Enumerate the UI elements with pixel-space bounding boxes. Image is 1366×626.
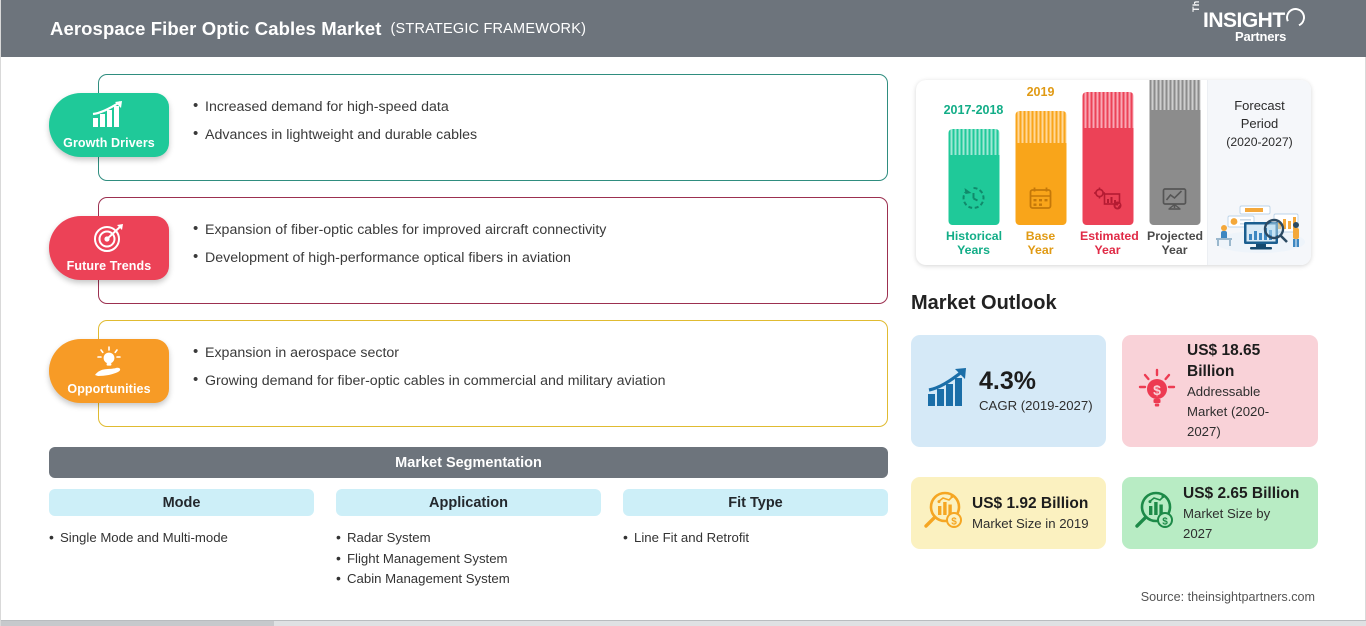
- bullet-item: Development of high-performance optical …: [193, 244, 606, 272]
- addressable-market-card[interactable]: $ US$ 18.65 Billion Addressable Market (…: [1122, 335, 1318, 447]
- market-size-2019-card[interactable]: $ US$ 1.92 Billion Market Size in 2019: [911, 477, 1106, 549]
- list-item: Line Fit and Retrofit: [623, 528, 888, 549]
- cagr-value: 4.3%: [979, 367, 1093, 396]
- market-outlook-title: Market Outlook: [911, 292, 1057, 315]
- market-size-2027-texts: US$ 2.65 Billion Market Size by 2027: [1183, 483, 1299, 544]
- bar-caption: Historical Years: [946, 229, 1001, 257]
- forecast-line-1: Forecast: [1208, 97, 1311, 115]
- segmentation-heading: Fit Type: [623, 489, 888, 516]
- bullet-item: Advances in lightweight and durable cabl…: [193, 121, 477, 149]
- page-title: Aerospace Fiber Optic Cables Market: [50, 18, 381, 40]
- market-segmentation-header: Market Segmentation: [49, 447, 888, 478]
- bullet-item: Expansion of fiber-optic cables for impr…: [193, 216, 606, 244]
- data-analytics-illustration: [1212, 192, 1308, 259]
- forecast-period-text: Forecast Period (2020-2027): [1208, 97, 1311, 151]
- presentation-chart-icon: [1161, 185, 1189, 216]
- market-size-2027-value: US$ 2.65 Billion: [1183, 483, 1299, 504]
- market-segmentation-title: Market Segmentation: [395, 455, 542, 471]
- bullet-item: Expansion in aerospace sector: [193, 339, 666, 367]
- bar-caption: Projected Year: [1147, 229, 1202, 257]
- list-item: Cabin Management System: [336, 569, 601, 590]
- svg-text:$: $: [1153, 382, 1161, 398]
- calendar-icon: [1028, 185, 1054, 216]
- market-size-2027-label: Market Size by 2027: [1183, 504, 1293, 544]
- logo-the-text: The: [1191, 0, 1201, 12]
- list-item: Flight Management System: [336, 549, 601, 570]
- addressable-market-value: US$ 18.65 Billion: [1187, 340, 1302, 382]
- magnifier-chart-dollar-icon: $: [921, 489, 965, 538]
- timeline-bars: 2017-2018 Historical Years: [916, 80, 1206, 265]
- page-subtitle: (STRATEGIC FRAMEWORK): [390, 21, 586, 37]
- segmentation-heading-label: Fit Type: [728, 495, 783, 511]
- svg-text:$: $: [1162, 516, 1168, 527]
- bullet-list-future-trends: Expansion of fiber-optic cables for impr…: [193, 216, 606, 272]
- target-dartboard-icon: [91, 223, 127, 258]
- magnifier-chart-dollar-icon: $: [1132, 489, 1176, 538]
- segmentation-column-application: Application Radar System Flight Manageme…: [336, 489, 601, 590]
- bullet-item: Growing demand for fiber-optic cables in…: [193, 367, 666, 395]
- logo-partners-text: Partners: [1235, 29, 1286, 44]
- badge-growth-drivers[interactable]: Growth Drivers: [49, 93, 169, 157]
- segmentation-items: Line Fit and Retrofit: [623, 528, 888, 549]
- lightbulb-in-hand-icon: [89, 346, 129, 383]
- cagr-card[interactable]: 4.3% CAGR (2019-2027): [911, 335, 1106, 447]
- list-item: Single Mode and Multi-mode: [49, 528, 314, 549]
- badge-label: Future Trends: [67, 259, 152, 273]
- source-attribution: Source: theinsightpartners.com: [1141, 590, 1315, 604]
- market-size-2019-value: US$ 1.92 Billion: [972, 493, 1089, 514]
- addressable-market-label: Addressable Market (2020-2027): [1187, 382, 1302, 442]
- page-header: Aerospace Fiber Optic Cables Market (STR…: [1, 0, 1366, 57]
- segmentation-heading-label: Application: [429, 495, 508, 511]
- badge-opportunities[interactable]: Opportunities: [49, 339, 169, 403]
- market-size-2019-label: Market Size in 2019: [972, 514, 1089, 534]
- badge-label: Growth Drivers: [63, 136, 155, 150]
- bullet-list-growth-drivers: Increased demand for high-speed data Adv…: [193, 93, 477, 149]
- segmentation-column-mode: Mode Single Mode and Multi-mode: [49, 489, 314, 549]
- bar-year-label: 2017-2018: [944, 103, 1004, 117]
- insight-partners-logo: The INSIGHT Partners: [1191, 8, 1311, 50]
- forecast-period-side-panel: Forecast Period (2020-2027): [1207, 80, 1311, 265]
- forecast-line-2: Period: [1208, 115, 1311, 133]
- bar-year-label: 2019: [1027, 85, 1055, 99]
- svg-text:$: $: [951, 516, 957, 527]
- bullet-item: Increased demand for high-speed data: [193, 93, 477, 121]
- forecast-line-3: (2020-2027): [1208, 133, 1311, 151]
- segmentation-heading-label: Mode: [163, 495, 201, 511]
- bar-chart-arrow-up-icon: [925, 367, 971, 416]
- segmentation-items: Single Mode and Multi-mode: [49, 528, 314, 549]
- addressable-market-texts: US$ 18.65 Billion Addressable Market (20…: [1187, 340, 1302, 442]
- list-item: Radar System: [336, 528, 601, 549]
- cagr-label: CAGR (2019-2027): [979, 396, 1093, 416]
- badge-future-trends[interactable]: Future Trends: [49, 216, 169, 280]
- bar-caption: Estimated Year: [1080, 229, 1135, 257]
- badge-label: Opportunities: [67, 382, 150, 396]
- lightbulb-dollar-icon: $: [1136, 367, 1178, 416]
- logo-ring-icon: [1283, 5, 1307, 29]
- horizontal-scrollbar[interactable]: [1, 620, 1366, 626]
- forecast-gear-chart-icon: [1093, 185, 1123, 216]
- market-size-2019-texts: US$ 1.92 Billion Market Size in 2019: [972, 493, 1089, 534]
- segmentation-heading: Mode: [49, 489, 314, 516]
- clock-history-icon: [961, 185, 987, 216]
- segmentation-heading: Application: [336, 489, 601, 516]
- segmentation-items: Radar System Flight Management System Ca…: [336, 528, 601, 590]
- cagr-texts: 4.3% CAGR (2019-2027): [979, 367, 1093, 416]
- market-size-2027-card[interactable]: $ US$ 2.65 Billion Market Size by 2027: [1122, 477, 1318, 549]
- segmentation-column-fit-type: Fit Type Line Fit and Retrofit: [623, 489, 888, 549]
- bullet-list-opportunities: Expansion in aerospace sector Growing de…: [193, 339, 666, 395]
- forecast-period-chart: 2017-2018 Historical Years: [916, 80, 1311, 265]
- bar-chart-arrow-up-icon: [89, 100, 129, 135]
- bar-caption: Base Year: [1013, 229, 1068, 257]
